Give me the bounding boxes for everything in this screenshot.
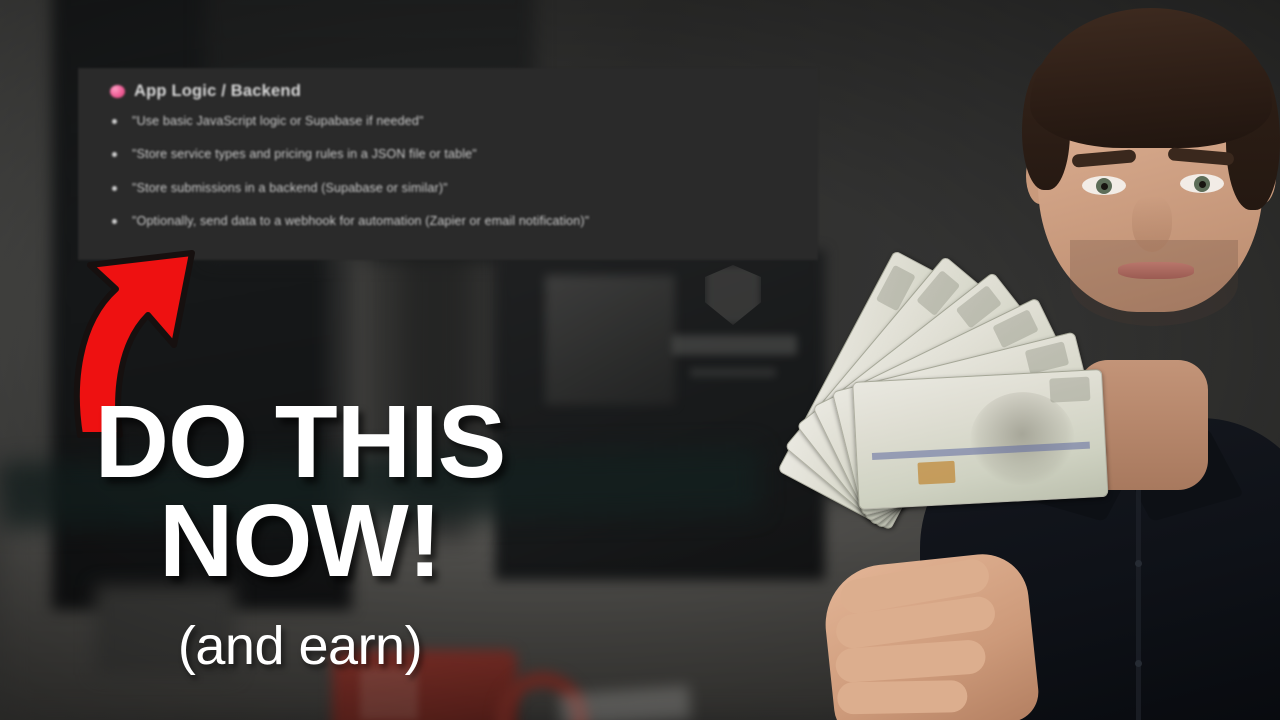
presenter-hair	[1030, 8, 1272, 148]
presenter-mouth	[1118, 262, 1194, 279]
presenter	[860, 0, 1280, 720]
pink-dot-emoji-icon	[110, 85, 125, 98]
shirt-placket	[1136, 470, 1141, 720]
presenter-nose	[1132, 196, 1172, 252]
finger	[837, 680, 968, 714]
prompt-card-title: App Logic / Backend	[134, 82, 301, 101]
prompt-bullet-list: "Use basic JavaScript logic or Supabase …	[102, 115, 808, 248]
presenter-pupil-right	[1199, 181, 1206, 188]
dollar-bill	[852, 369, 1108, 510]
page-subtitle: (and earn)	[0, 615, 600, 677]
prompt-card: App Logic / Backend "Use basic JavaScrip…	[78, 68, 818, 260]
shirt-button	[1135, 660, 1142, 667]
thumbnail-canvas: App Logic / Backend "Use basic JavaScrip…	[0, 0, 1280, 720]
list-item: "Store service types and pricing rules i…	[102, 148, 808, 162]
list-item: "Store submissions in a backend (Supabas…	[102, 182, 808, 196]
presenter-hand	[820, 550, 1042, 720]
list-item: "Use basic JavaScript logic or Supabase …	[102, 115, 808, 129]
page-title: DO THIS NOW!	[0, 393, 600, 591]
list-item: "Optionally, send data to a webhook for …	[102, 215, 808, 229]
shirt-button	[1135, 560, 1142, 567]
presenter-pupil-left	[1101, 183, 1108, 190]
prompt-card-title-row: App Logic / Backend	[110, 82, 301, 101]
